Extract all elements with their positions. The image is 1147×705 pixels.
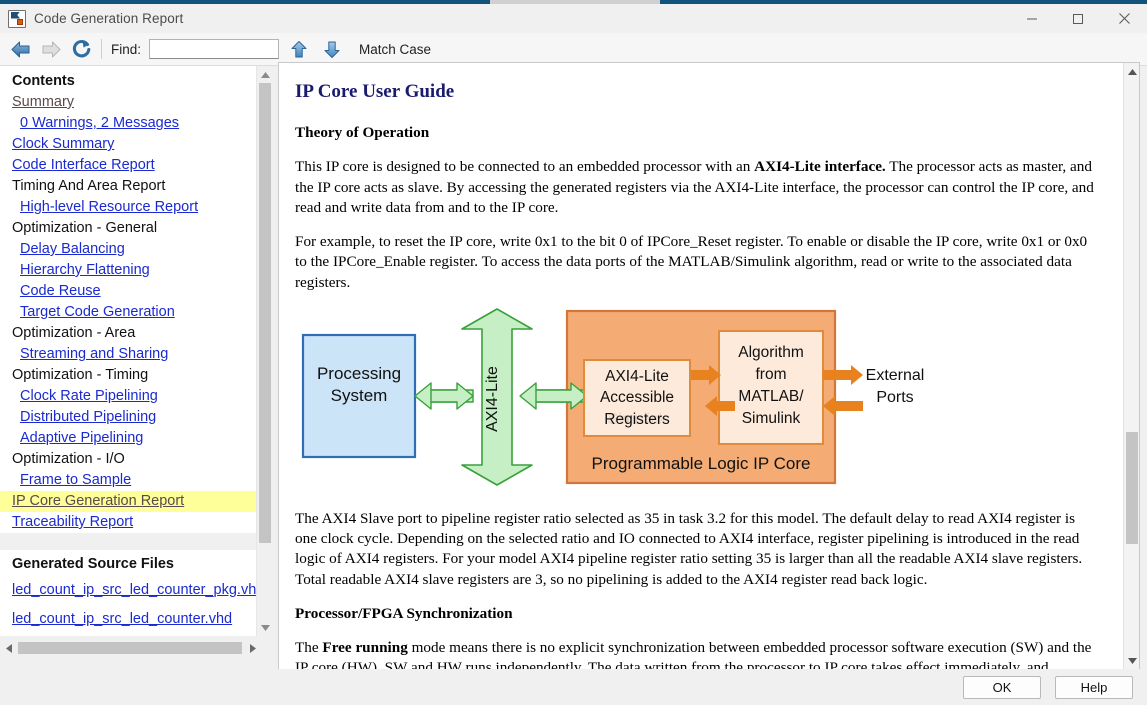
sidebar-item-label[interactable]: Delay Balancing [20,241,125,257]
sidebar-item-ip-core-generation-report[interactable]: IP Core Generation Report [0,491,256,512]
generated-source-files-heading: Generated Source Files [0,550,256,576]
sidebar-item-label[interactable]: Target Code Generation [20,304,175,320]
sidebar-horizontal-scrollbar[interactable] [0,639,272,657]
svg-text:AXI4-Lite: AXI4-Lite [605,368,669,385]
sidebar-item-adaptive-pipelining[interactable]: Adaptive Pipelining [0,428,256,449]
sidebar-item-target-code-generation[interactable]: Target Code Generation [0,302,256,323]
contents-block: Contents Summary0 Warnings, 2 MessagesCl… [0,66,256,533]
sidebar-item-label[interactable]: Streaming and Sharing [20,346,168,362]
svg-text:System: System [331,386,388,405]
content-scroll-up-arrow-icon[interactable] [1124,63,1140,80]
paragraph-axi4-pipeline: The AXI4 Slave port to pipeline register… [295,509,1099,590]
para4-part-b: mode means there is no explicit synchron… [295,639,1091,669]
scroll-right-arrow-icon[interactable] [244,639,261,657]
back-arrow-icon[interactable] [8,36,34,62]
sidebar-item-label: Optimization - Area [12,325,135,341]
contents-list: Summary0 Warnings, 2 MessagesClock Summa… [0,92,256,533]
window-title: Code Generation Report [34,11,183,26]
generated-source-file-item[interactable]: led_count_ip_src_led_counter.vhd [0,605,256,634]
sidebar: Contents Summary0 Warnings, 2 MessagesCl… [0,66,272,669]
sidebar-item-frame-to-sample[interactable]: Frame to Sample [0,470,256,491]
sidebar-item-optimization-general: Optimization - General [0,218,256,239]
report-content-pane: IP Core User Guide Theory of Operation T… [278,62,1140,670]
sidebar-item-label[interactable]: Hierarchy Flattening [20,262,150,278]
sidebar-divider [0,533,256,550]
svg-text:MATLAB/: MATLAB/ [738,388,804,405]
sidebar-scroll-area: Contents Summary0 Warnings, 2 MessagesCl… [0,66,256,636]
sidebar-item-label[interactable]: Code Interface Report [12,157,155,173]
down-arrow-icon[interactable] [319,36,345,62]
sidebar-item-optimization-area: Optimization - Area [0,323,256,344]
page-title: IP Core User Guide [295,79,1099,104]
paragraph-free-running: The Free running mode means there is no … [295,638,1099,669]
sidebar-item-label[interactable]: Clock Rate Pipelining [20,388,158,404]
paragraph-registers: For example, to reset the IP core, write… [295,232,1099,293]
code-generation-report-window: Code Generation Report [0,0,1147,705]
sidebar-item-label[interactable]: Code Reuse [20,283,101,299]
sidebar-item-label[interactable]: IP Core Generation Report [12,493,184,509]
sidebar-item-distributed-pipelining[interactable]: Distributed Pipelining [0,407,256,428]
sidebar-item-optimization-timing: Optimization - Timing [0,365,256,386]
match-case-label[interactable]: Match Case [359,42,431,57]
sidebar-item-summary[interactable]: Summary [0,92,256,113]
help-button[interactable]: Help [1055,676,1133,699]
window-controls [1009,4,1147,33]
sidebar-item-optimization-i-o: Optimization - I/O [0,449,256,470]
theory-of-operation-heading: Theory of Operation [295,123,1099,143]
matlab-report-icon [8,10,26,28]
content-scroll-down-arrow-icon[interactable] [1124,652,1140,669]
sidebar-item-code-interface-report[interactable]: Code Interface Report [0,155,256,176]
content-vertical-scrollbar[interactable] [1123,63,1139,669]
sidebar-item-label[interactable]: Summary [12,94,74,110]
report-document: IP Core User Guide Theory of Operation T… [279,63,1117,669]
sidebar-item-label[interactable]: Clock Summary [12,136,114,152]
sidebar-item-label[interactable]: Adaptive Pipelining [20,430,143,446]
svg-text:Registers: Registers [604,411,670,428]
svg-text:Accessible: Accessible [600,389,674,406]
processor-fpga-sync-heading: Processor/FPGA Synchronization [295,604,1099,624]
sidebar-item-label: Optimization - Timing [12,367,148,383]
find-label: Find: [111,42,141,57]
title-bar: Code Generation Report [0,4,1147,33]
content-scroll-track[interactable] [1124,80,1140,652]
para4-bold: Free running [322,639,407,656]
sidebar-item-label: Optimization - General [12,220,157,236]
svg-text:Ports: Ports [876,389,913,406]
sidebar-item-timing-and-area-report: Timing And Area Report [0,176,256,197]
sidebar-item-delay-balancing[interactable]: Delay Balancing [0,239,256,260]
search-input[interactable] [149,39,279,59]
dialog-footer: OK Help [0,669,1147,705]
content-scroll-thumb[interactable] [1126,432,1138,544]
sidebar-item-label[interactable]: High-level Resource Report [20,199,198,215]
sidebar-item-high-level-resource-report[interactable]: High-level Resource Report [0,197,256,218]
sidebar-item-label[interactable]: Traceability Report [12,514,133,530]
maximize-button[interactable] [1055,4,1101,33]
scroll-down-arrow-icon[interactable] [257,619,273,636]
generated-source-files-block: Generated Source Files led_count_ip_src_… [0,550,256,634]
svg-text:Algorithm: Algorithm [738,344,803,361]
paragraph-theory-intro: This IP core is designed to be connected… [295,157,1099,218]
sidebar-item-label[interactable]: 0 Warnings, 2 Messages [20,115,179,131]
svg-text:Processing: Processing [317,364,401,383]
sidebar-item-code-reuse[interactable]: Code Reuse [0,281,256,302]
generated-source-file-item[interactable]: led_count_ip_src_led_counter_pkg.vhd [0,576,256,605]
svg-text:Simulink: Simulink [742,410,801,427]
para1-part-a: This IP core is designed to be connected… [295,158,754,175]
minimize-button[interactable] [1009,4,1055,33]
generated-source-files-list: led_count_ip_src_led_counter_pkg.vhdled_… [0,576,256,634]
ok-button[interactable]: OK [963,676,1041,699]
sidebar-item-traceability-report[interactable]: Traceability Report [0,512,256,533]
sidebar-item-clock-rate-pipelining[interactable]: Clock Rate Pipelining [0,386,256,407]
toolbar-separator [101,39,102,59]
forward-arrow-icon [38,36,64,62]
sidebar-item-streaming-and-sharing[interactable]: Streaming and Sharing [0,344,256,365]
sidebar-scroll-thumb[interactable] [259,83,271,543]
generated-source-file-link[interactable]: led_count_ip_src_led_counter.vhd [12,611,232,627]
svg-text:AXI4-Lite: AXI4-Lite [484,366,501,432]
svg-text:from: from [756,366,787,383]
contents-heading: Contents [0,66,256,92]
sidebar-item-0-warnings-2-messages[interactable]: 0 Warnings, 2 Messages [0,113,256,134]
sidebar-item-hierarchy-flattening[interactable]: Hierarchy Flattening [0,260,256,281]
scroll-up-arrow-icon[interactable] [257,66,273,83]
generated-source-file-link[interactable]: led_count_ip_src_led_counter_pkg.vhd [12,582,256,598]
svg-text:External: External [866,367,925,384]
ip-core-architecture-diagram: Processing System AXI4-Lite AXI4-Lite Ac… [295,307,1099,493]
sidebar-scroll-track[interactable] [257,83,273,619]
sidebar-item-label: Timing And Area Report [12,178,165,194]
sidebar-item-label: Optimization - I/O [12,451,125,467]
sidebar-item-clock-summary[interactable]: Clock Summary [0,134,256,155]
sidebar-item-label[interactable]: Distributed Pipelining [20,409,156,425]
up-arrow-icon[interactable] [286,36,312,62]
sidebar-item-label[interactable]: Frame to Sample [20,472,131,488]
close-button[interactable] [1101,4,1147,33]
sidebar-hscroll-thumb[interactable] [18,642,242,654]
sidebar-vertical-scrollbar[interactable] [256,66,272,636]
para1-bold: AXI4-Lite interface. [754,158,886,175]
scroll-left-arrow-icon[interactable] [0,639,17,657]
refresh-icon[interactable] [68,36,94,62]
svg-text:Programmable Logic IP Core: Programmable Logic IP Core [592,454,811,473]
para4-part-a: The [295,639,322,656]
